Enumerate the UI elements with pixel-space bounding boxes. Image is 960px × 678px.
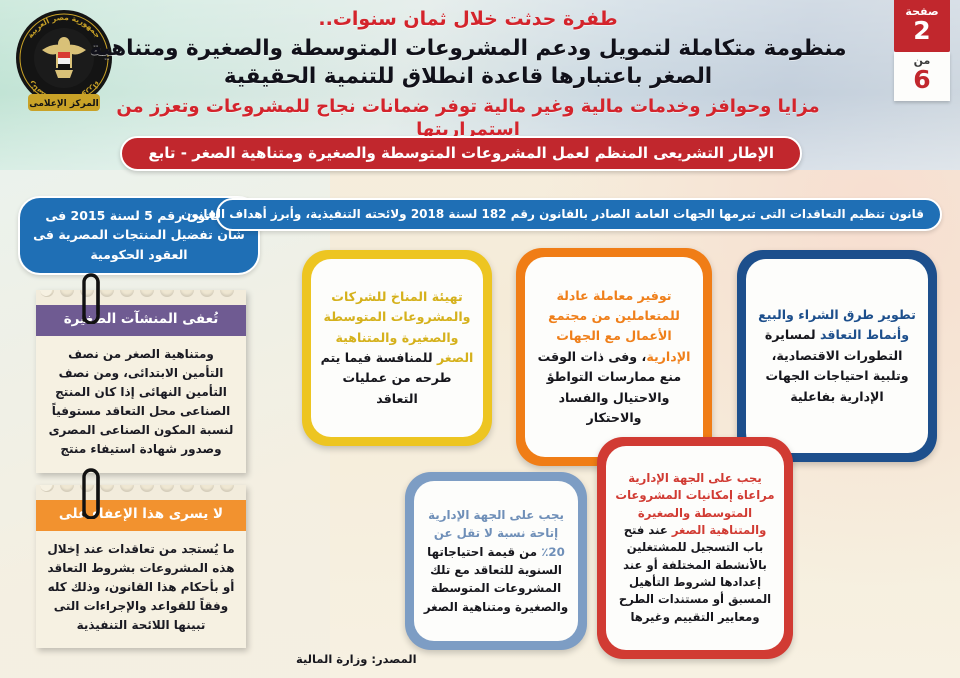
note-header: لا يسرى هذا الإعفاء على (36, 500, 246, 531)
card-administrative-entity-must-consider-msme-capacity: يجب على الجهة الإدارية مراعاة إمكانيات ا… (597, 437, 793, 659)
section-ribbon: الإطار التشريعى المنظم لعمل المشروعات ال… (120, 136, 802, 171)
note-card-exempt-small-enterprises: تُعفى المنشآت الصغيرة ومتناهية الصغر من … (36, 290, 246, 473)
header-kicker: طفرة حدثت خلال ثمان سنوات.. (88, 8, 848, 32)
paperclip-icon (78, 465, 104, 519)
card-fair-treatment-business-community: توفير معاملة عادلة للمتعاملين من مجتمع ا… (516, 248, 712, 466)
card-text: تهيئة المناخ للشركات والمشروعات المتوسطة… (320, 287, 474, 409)
card-enabling-climate-for-msmes: تهيئة المناخ للشركات والمشروعات المتوسطة… (302, 250, 492, 446)
card-text: يجب على الجهة الإدارية مراعاة إمكانيات ا… (615, 470, 775, 627)
card-text: تطوير طرق الشراء والبيع وأنماط التعاقد ل… (755, 305, 919, 407)
header-title-block: طفرة حدثت خلال ثمان سنوات.. منظومة متكام… (88, 8, 848, 141)
infographic-root: جمهورية مصر العربية رئاسة مجلس الوزراء ا… (0, 0, 960, 678)
note-header: تُعفى المنشآت الصغيرة (36, 305, 246, 336)
page-badge-top: صفحة 2 (894, 0, 950, 52)
note-card-exemption-not-applicable: لا يسرى هذا الإعفاء على ما يُستجد من تعا… (36, 485, 246, 648)
page-badge-number: 2 (894, 18, 950, 44)
header-main-title: منظومة متكاملة لتمويل ودعم المشروعات الم… (88, 35, 848, 91)
law-182-2018-pill: قانون تنظيم التعاقدات التى تبرمها الجهات… (216, 198, 942, 231)
card-text: توفير معاملة عادلة للمتعاملين من مجتمع ا… (534, 286, 694, 429)
header-subtitle: مزايا وحوافز وخدمات مالية وغير مالية توف… (88, 95, 848, 142)
page-badge-bottom: من 6 (894, 52, 950, 100)
note-body: ومتناهية الصغر من نصف التأمين الابتدائى،… (36, 336, 246, 473)
page-badge-total: 6 (894, 67, 950, 93)
page-badge: صفحة 2 من 6 (894, 0, 950, 101)
note-perforation (36, 290, 246, 305)
source-label: المصدر: وزارة المالية (296, 652, 417, 666)
card-develop-purchase-sale-methods: تطوير طرق الشراء والبيع وأنماط التعاقد ل… (737, 250, 937, 462)
note-body: ما يُستجد من تعاقدات عند إخلال هذه المشر… (36, 531, 246, 649)
card-minimum-twenty-percent-allocation: يجب على الجهة الإدارية إتاحة نسبة لا تقل… (405, 472, 587, 650)
note-perforation (36, 485, 246, 500)
paperclip-icon (78, 270, 104, 324)
card-text: يجب على الجهة الإدارية إتاحة نسبة لا تقل… (423, 506, 569, 616)
